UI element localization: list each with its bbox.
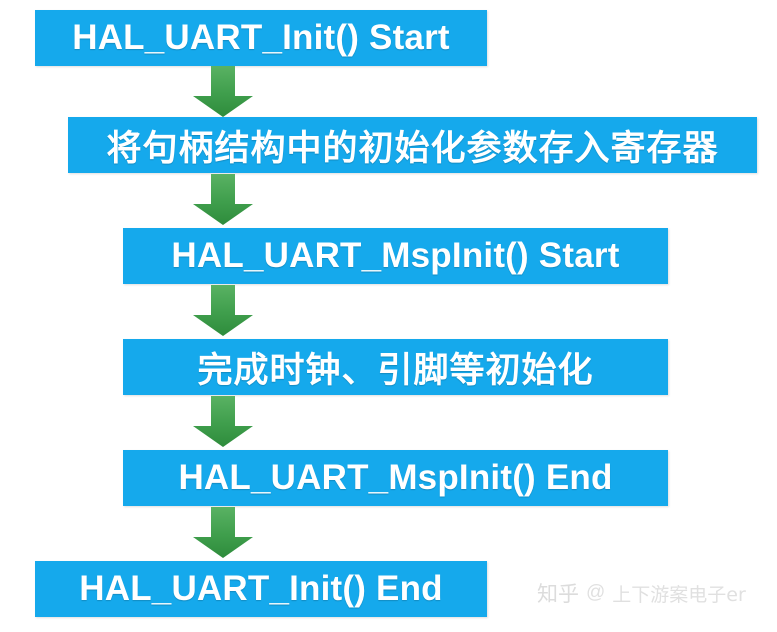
flow-node-label: HAL_UART_Init() Start <box>72 18 450 58</box>
flow-node-finish-clock-and-pin-init: 完成时钟、引脚等初始化 <box>123 339 668 395</box>
down-block-arrow-icon <box>192 396 254 448</box>
flow-connector-arrow-down <box>192 396 254 448</box>
down-block-arrow-icon <box>192 174 254 226</box>
flow-connector-arrow-down <box>192 285 254 337</box>
flow-node-hal-uart-mspinit-start: HAL_UART_MspInit() Start <box>123 228 668 284</box>
flow-node-hal-uart-init-start: HAL_UART_Init() Start <box>35 10 487 66</box>
down-block-arrow-icon <box>192 507 254 559</box>
flow-node-label: HAL_UART_MspInit() End <box>178 458 612 498</box>
flow-node-hal-uart-mspinit-end: HAL_UART_MspInit() End <box>123 450 668 506</box>
flow-node-label: HAL_UART_Init() End <box>79 569 443 609</box>
flow-node-label: 将句柄结构中的初始化参数存入寄存器 <box>106 120 718 171</box>
flow-node-label: HAL_UART_MspInit() Start <box>171 236 619 276</box>
down-block-arrow-icon <box>192 285 254 337</box>
flow-connector-arrow-down <box>192 66 254 118</box>
down-block-arrow-icon <box>192 66 254 118</box>
flow-connector-arrow-down <box>192 507 254 559</box>
flow-node-label: 完成时钟、引脚等初始化 <box>197 342 593 393</box>
flowchart-canvas: HAL_UART_Init() Start 将句柄结构中的初始化参数存入寄存器 <box>0 0 777 632</box>
flow-node-hal-uart-init-end: HAL_UART_Init() End <box>35 561 487 617</box>
flow-node-store-init-params-to-register: 将句柄结构中的初始化参数存入寄存器 <box>68 117 757 173</box>
flow-connector-arrow-down <box>192 174 254 226</box>
